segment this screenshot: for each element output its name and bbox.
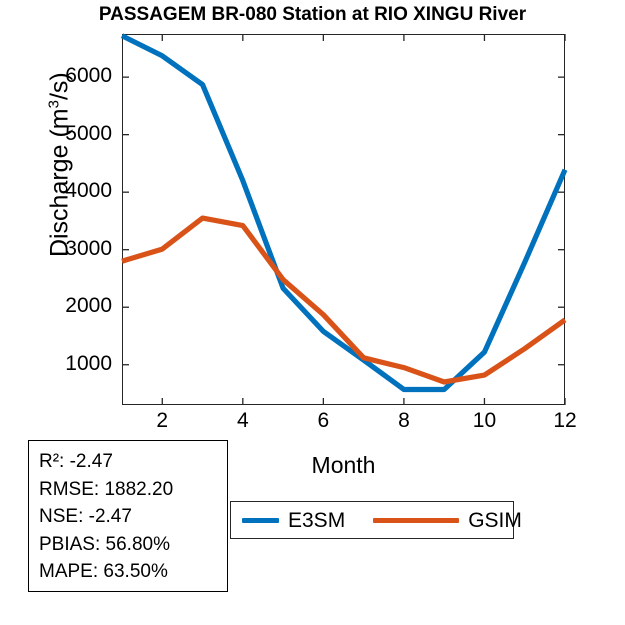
chart-figure: PASSAGEM BR-080 Station at RIO XINGU Riv…	[0, 0, 625, 625]
y-axis-label-exponent: 3	[45, 100, 62, 108]
y-tick-label: 1000	[0, 352, 112, 376]
stat-r2: R²: -2.47	[39, 448, 227, 476]
statistics-box: R²: -2.47 RMSE: 1882.20 NSE: -2.47 PBIAS…	[28, 440, 228, 592]
stat-mape: MAPE: 63.50%	[39, 558, 227, 586]
x-tick-label: 12	[535, 409, 595, 433]
chart-legend: E3SM GSIM	[230, 501, 514, 539]
y-tick-label: 5000	[0, 122, 112, 146]
stat-pbias: PBIAS: 56.80%	[39, 531, 227, 559]
x-tick-label: 2	[132, 409, 192, 433]
stat-rmse: RMSE: 1882.20	[39, 476, 227, 504]
x-tick-label: 8	[374, 409, 434, 433]
axis-tick-marks	[122, 34, 565, 405]
stat-nse: NSE: -2.47	[39, 503, 227, 531]
chart-title: PASSAGEM BR-080 Station at RIO XINGU Riv…	[0, 4, 625, 26]
x-tick-label: 6	[293, 409, 353, 433]
y-tick-label: 6000	[0, 64, 112, 88]
y-tick-label: 4000	[0, 179, 112, 203]
series-layer	[122, 34, 565, 405]
legend-swatch-gsim	[373, 518, 459, 523]
legend-item-gsim: GSIM	[373, 510, 522, 531]
y-tick-label: 2000	[0, 294, 112, 318]
x-tick-label: 10	[454, 409, 514, 433]
legend-item-e3sm: E3SM	[242, 510, 345, 531]
legend-label-gsim: GSIM	[468, 510, 522, 531]
y-tick-label: 3000	[0, 237, 112, 261]
x-tick-label: 4	[213, 409, 273, 433]
series-line-gsim	[122, 218, 565, 382]
series-paths	[122, 36, 565, 390]
legend-swatch-e3sm	[242, 518, 279, 523]
legend-label-e3sm: E3SM	[288, 510, 345, 531]
